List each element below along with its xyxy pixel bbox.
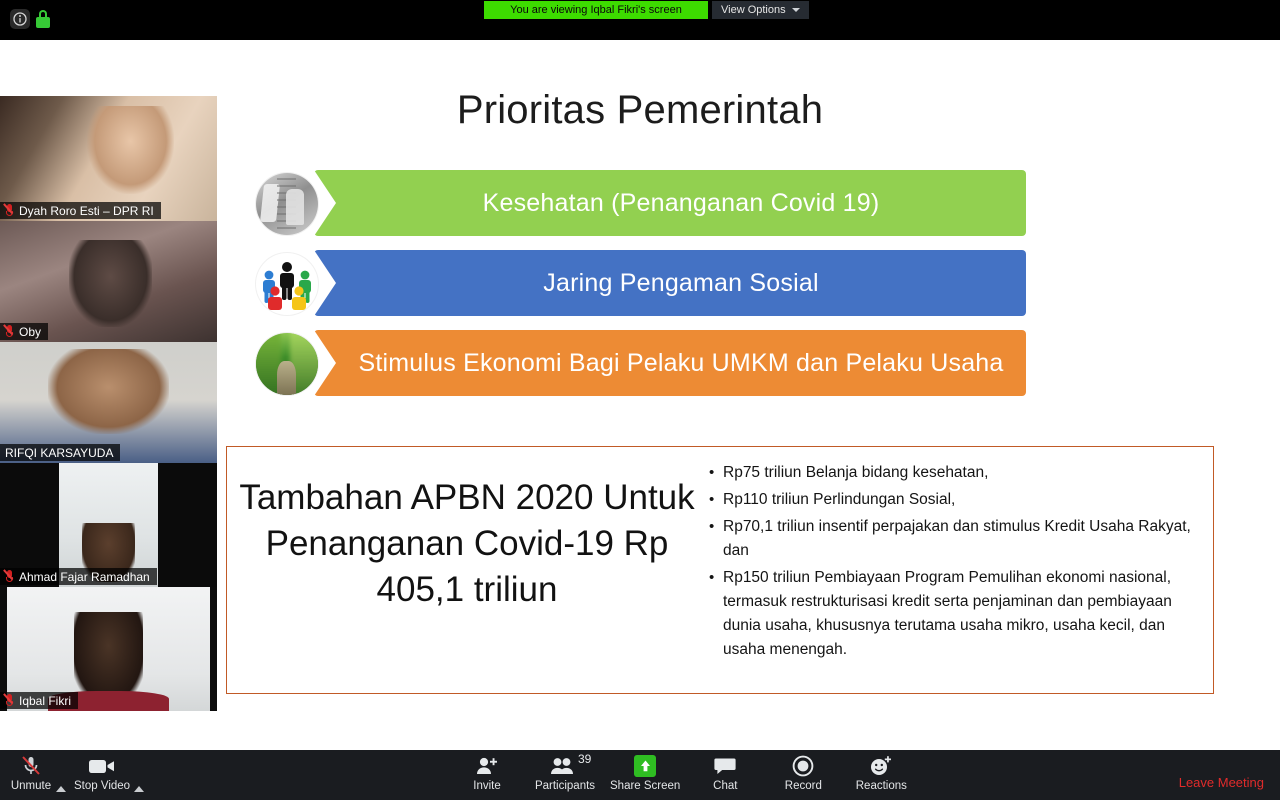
toolbar-button-label: Record (785, 780, 822, 792)
participant-name: Oby (19, 325, 41, 339)
participant-name: Iqbal Fikri (19, 694, 71, 708)
people-group-icon (256, 253, 318, 315)
budget-bullet-item: •Rp75 triliun Belanja bidang kesehatan, (709, 461, 1201, 485)
budget-summary-box: Tambahan APBN 2020 Untuk Penanganan Covi… (226, 446, 1214, 694)
share-screen-up-arrow-icon (634, 755, 656, 777)
toolbar-button-share-screen[interactable]: Share Screen (604, 750, 686, 792)
microphone-muted-icon (19, 755, 43, 777)
toolbar-button-label: Invite (473, 780, 501, 792)
microphone-muted-icon (5, 204, 14, 217)
budget-bullet-item: •Rp70,1 triliun insentif perpajakan dan … (709, 515, 1201, 563)
bullet-text: Rp150 triliun Pembiayaan Program Pemulih… (723, 566, 1201, 662)
priority-bar-economy-label: Stimulus Ekonomi Bagi Pelaku UMKM dan Pe… (314, 330, 1026, 396)
budget-bullet-item: •Rp110 triliun Perlindungan Sosial, (709, 488, 1201, 512)
toolbar-button-chat[interactable]: Chat (686, 750, 764, 792)
info-icon[interactable] (10, 9, 30, 29)
bullet-text: Rp75 triliun Belanja bidang kesehatan, (723, 461, 1201, 485)
bullet-dot-icon: • (709, 566, 723, 662)
toolbar-center-group: Invite39ParticipantsShare ScreenChatReco… (448, 750, 920, 792)
bullet-text: Rp70,1 triliun insentif perpajakan dan s… (723, 515, 1201, 563)
top-bar-status-icons (10, 9, 50, 29)
budget-headline: Tambahan APBN 2020 Untuk Penanganan Covi… (237, 475, 697, 614)
leave-meeting-button[interactable]: Leave Meeting (1179, 775, 1264, 790)
participant-name: Ahmad Fajar Ramadhan (19, 570, 150, 584)
view-options-label: View Options (721, 1, 786, 19)
toolbar-button-label: Chat (713, 780, 737, 792)
participant-name-badge: Ahmad Fajar Ramadhan (0, 568, 157, 585)
encryption-lock-icon[interactable] (36, 10, 50, 28)
participant-thumbnail[interactable]: Oby (0, 221, 217, 342)
toolbar-button-label: Stop Video (74, 780, 130, 792)
microphone-muted-icon (5, 325, 14, 338)
microphone-muted-icon (5, 570, 14, 583)
participant-name-badge: Dyah Roro Esti – DPR RI (0, 202, 161, 219)
zoom-meeting-window: You are viewing Iqbal Fikri's screen Vie… (0, 0, 1280, 800)
view-options-button[interactable]: View Options (712, 1, 809, 19)
people-icon: 39 (550, 755, 580, 777)
toolbar-button-stop-video[interactable]: Stop Video (68, 750, 136, 792)
record-circle-icon (792, 755, 814, 777)
toolbar-button-reactions[interactable]: Reactions (842, 750, 920, 792)
chevron-down-icon (792, 8, 800, 12)
priority-row-economy: Stimulus Ekonomi Bagi Pelaku UMKM dan Pe… (256, 330, 1024, 396)
participant-name: RIFQI KARSAYUDA (5, 446, 113, 460)
participants-count: 39 (578, 752, 591, 766)
top-bar: You are viewing Iqbal Fikri's screen Vie… (0, 0, 1280, 40)
screen-share-status-banner: You are viewing Iqbal Fikri's screen (484, 1, 708, 19)
participant-name: Dyah Roro Esti – DPR RI (19, 204, 154, 218)
participant-thumbnail[interactable]: Iqbal Fikri (0, 587, 217, 711)
bullet-dot-icon: • (709, 515, 723, 563)
participant-name-badge: Iqbal Fikri (0, 692, 78, 709)
hospital-photo-icon (256, 173, 318, 235)
toolbar-button-label: Share Screen (610, 780, 680, 792)
participant-thumbnail[interactable]: RIFQI KARSAYUDA (0, 342, 217, 463)
priority-row-health: Kesehatan (Penanganan Covid 19) (256, 170, 1024, 236)
bullet-dot-icon: • (709, 488, 723, 512)
budget-bullet-list: •Rp75 triliun Belanja bidang kesehatan,•… (709, 461, 1201, 665)
budget-bullet-item: •Rp150 triliun Pembiayaan Program Pemuli… (709, 566, 1201, 662)
participant-thumbnail[interactable]: Ahmad Fajar Ramadhan (0, 463, 217, 587)
toolbar-button-unmute[interactable]: Unmute (4, 750, 58, 792)
participant-name-badge: RIFQI KARSAYUDA (0, 444, 120, 461)
toolbar-button-record[interactable]: Record (764, 750, 842, 792)
person-plus-icon (475, 755, 499, 777)
chat-bubble-icon (713, 755, 737, 777)
smiley-plus-icon (869, 755, 893, 777)
toolbar-left-group: UnmuteStop Video (4, 750, 146, 792)
participant-thumbnail-strip: Dyah Roro Esti – DPR RIObyRIFQI KARSAYUD… (0, 96, 217, 711)
toolbar-button-label: Participants (535, 780, 595, 792)
priority-bar-social-label: Jaring Pengaman Sosial (314, 250, 1026, 316)
participant-name-badge: Oby (0, 323, 48, 340)
bullet-dot-icon: • (709, 461, 723, 485)
meeting-toolbar: UnmuteStop Video Invite39ParticipantsSha… (0, 750, 1280, 800)
toolbar-button-participants[interactable]: 39Participants (526, 750, 604, 792)
participant-thumbnail[interactable]: Dyah Roro Esti – DPR RI (0, 96, 217, 221)
toolbar-button-label: Unmute (11, 780, 51, 792)
video-camera-icon (88, 755, 116, 777)
toolbar-button-invite[interactable]: Invite (448, 750, 526, 792)
forest-path-photo-icon (256, 333, 318, 395)
microphone-muted-icon (5, 694, 14, 707)
bullet-text: Rp110 triliun Perlindungan Sosial, (723, 488, 1201, 512)
priority-row-social: Jaring Pengaman Sosial (256, 250, 1024, 316)
toolbar-button-label: Reactions (856, 780, 907, 792)
priority-bar-health-label: Kesehatan (Penanganan Covid 19) (314, 170, 1026, 236)
